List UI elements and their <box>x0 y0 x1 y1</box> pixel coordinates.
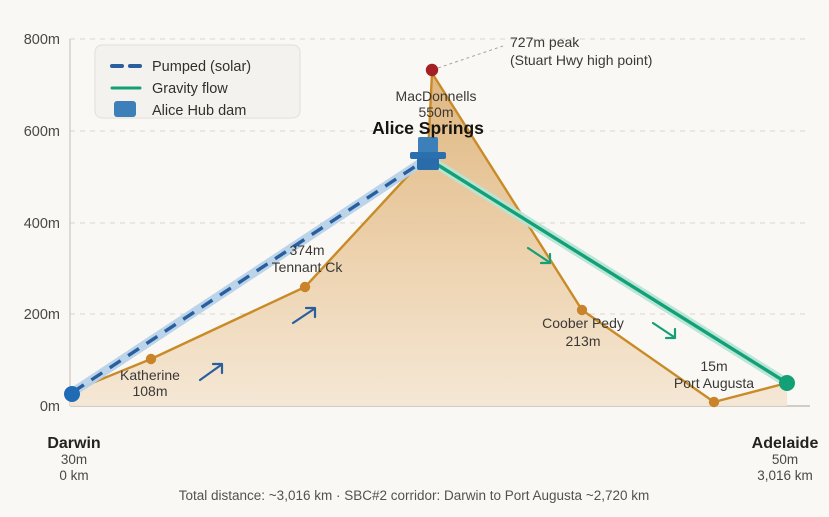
ytick-200: 200m <box>24 307 60 323</box>
alice-springs-label: Alice Springs <box>372 118 484 138</box>
legend-swatch-square <box>114 101 136 117</box>
tennant-elevation: 374m <box>289 242 324 258</box>
legend-label-pumped: Pumped (solar) <box>152 59 251 75</box>
marker-darwin <box>64 386 80 402</box>
peak-annotation-line2: (Stuart Hwy high point) <box>510 52 652 68</box>
marker-coober-pedy <box>577 305 587 315</box>
darwin-elevation: 30m <box>61 452 87 467</box>
tennant-label: Tennant Ck <box>272 259 344 275</box>
footer-caption: Total distance: ~3,016 km · SBC#2 corrid… <box>179 488 649 503</box>
ytick-600: 600m <box>24 124 60 140</box>
katherine-elevation: 108m <box>132 383 167 399</box>
katherine-label: Katherine <box>120 367 180 383</box>
marker-peak <box>426 64 438 76</box>
legend-label-dam: Alice Hub dam <box>152 103 246 119</box>
legend: Pumped (solar) Gravity flow Alice Hub da… <box>95 45 300 119</box>
coober-pedy-elevation: 213m <box>565 333 600 349</box>
darwin-distance: 0 km <box>59 468 88 483</box>
legend-item-dam[interactable]: Alice Hub dam <box>114 101 246 119</box>
ytick-0: 0m <box>40 399 60 415</box>
darwin-name: Darwin <box>47 435 100 452</box>
chart-canvas: 800m 600m 400m 200m 0m 727m peak (Stuart… <box>0 0 829 517</box>
coober-pedy-label: Coober Pedy <box>542 315 624 331</box>
marker-tennant-ck <box>300 282 310 292</box>
peak-annotation-line1: 727m peak <box>510 34 580 50</box>
legend-label-gravity: Gravity flow <box>152 81 228 97</box>
adelaide-elevation: 50m <box>772 452 798 467</box>
adelaide-name: Adelaide <box>752 435 819 452</box>
ytick-400: 400m <box>24 216 60 232</box>
ytick-800: 800m <box>24 32 60 48</box>
marker-adelaide <box>779 375 795 391</box>
adelaide-distance: 3,016 km <box>757 468 813 483</box>
port-augusta-elevation: 15m <box>700 358 727 374</box>
marker-port-augusta <box>709 397 719 407</box>
port-augusta-label: Port Augusta <box>674 375 754 391</box>
macdonnells-label: MacDonnells <box>396 88 477 104</box>
elevation-profile-chart: 800m 600m 400m 200m 0m 727m peak (Stuart… <box>0 0 829 517</box>
marker-katherine <box>146 354 156 364</box>
